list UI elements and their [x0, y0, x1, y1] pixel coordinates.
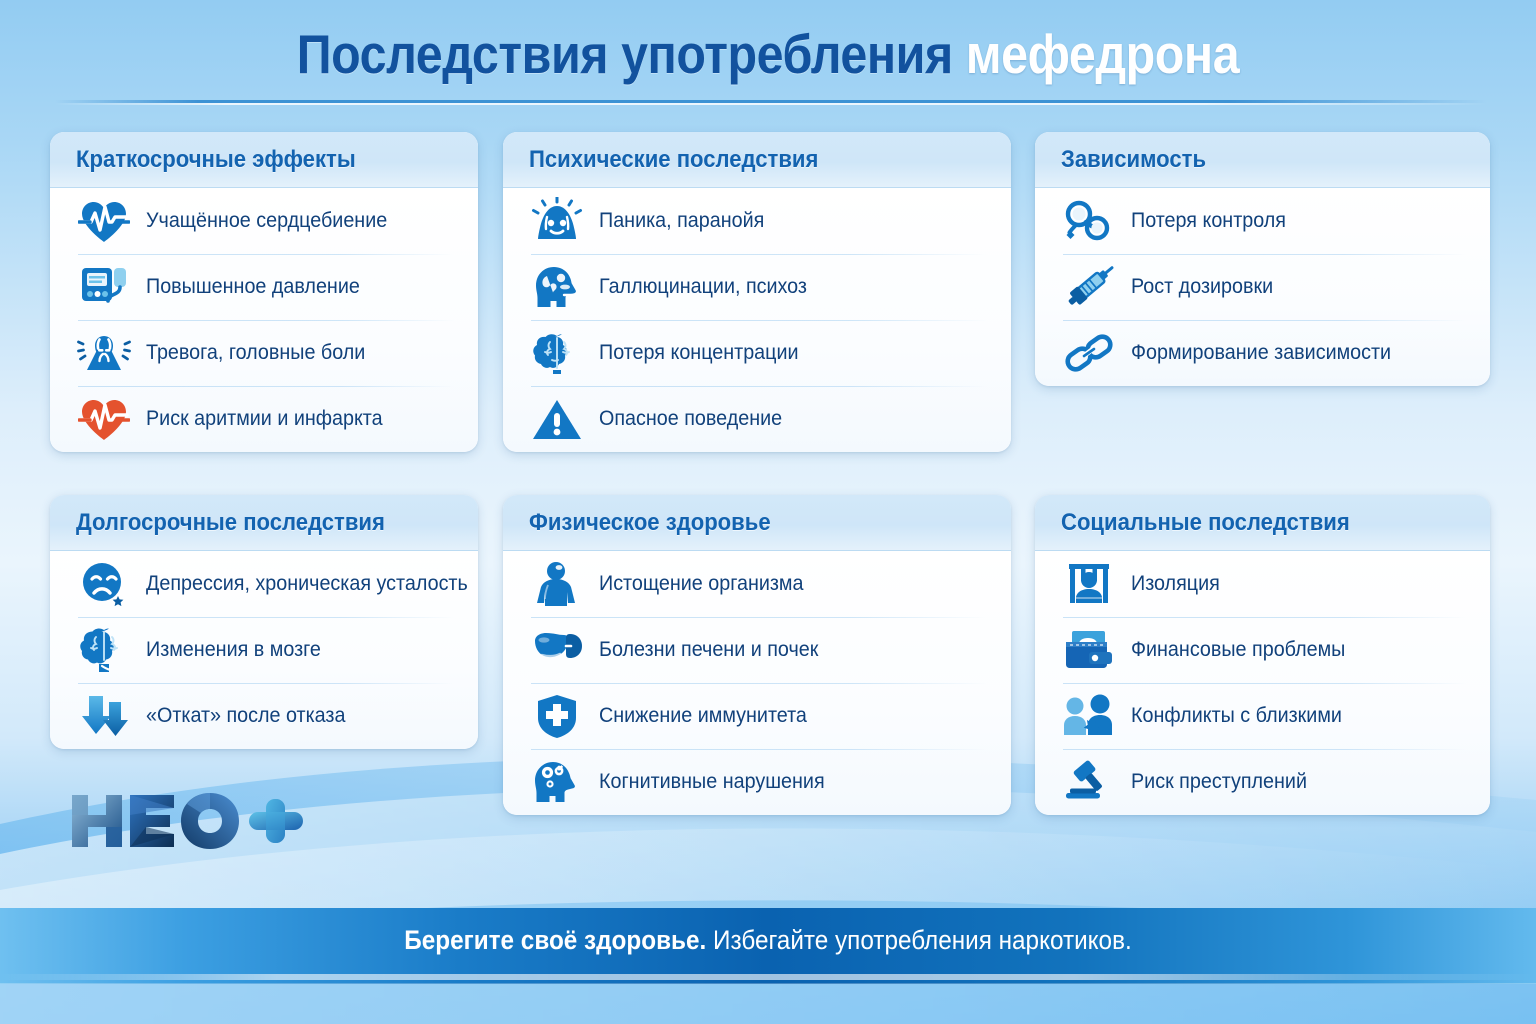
page-title-accent: мефедрона: [966, 23, 1239, 85]
list-item-label: Формирование зависимости: [1131, 341, 1391, 365]
heart-attack-icon: [76, 393, 132, 445]
list-item[interactable]: Галлюцинации, психоз: [521, 254, 993, 320]
handcuffs-icon: [1061, 195, 1117, 247]
footer-message-bold: Берегите своё здоровье.: [404, 925, 706, 955]
list-item[interactable]: «Откат» после отказа: [68, 683, 460, 749]
cognitive-gears-head-icon: [529, 756, 585, 808]
sad-face-icon: [76, 558, 132, 610]
card-header: Зависимость: [1035, 132, 1490, 188]
syringe-icon: [1061, 261, 1117, 313]
list-item-label: Потеря концентрации: [599, 341, 799, 365]
list-item[interactable]: Снижение иммунитета: [521, 683, 993, 749]
list-item[interactable]: Учащённое сердцебиение: [68, 188, 460, 254]
list-item[interactable]: Изоляция: [1053, 551, 1472, 617]
card-dependence[interactable]: Зависимость Потеря контроля Рост дозиров…: [1035, 132, 1490, 386]
card-body: Паника, паранойя Галлюцинации, психоз По…: [503, 188, 1011, 452]
card-header: Долгосрочные последствия: [50, 495, 478, 551]
card-body: Истощение организма Болезни печени и поч…: [503, 551, 1011, 815]
card-title: Психические последствия: [529, 146, 818, 174]
card-body: Изоляция Финансовые проблемы Конфликты с…: [1035, 551, 1490, 815]
list-item[interactable]: Истощение организма: [521, 551, 993, 617]
list-item-label: Галлюцинации, психоз: [599, 275, 807, 299]
list-item-label: Учащённое сердцебиение: [146, 209, 387, 233]
card-physical-health[interactable]: Физическое здоровье Истощение организма …: [503, 495, 1011, 815]
list-item-label: Опасное поведение: [599, 407, 782, 431]
card-title: Социальные последствия: [1061, 509, 1350, 537]
card-header: Социальные последствия: [1035, 495, 1490, 551]
list-item[interactable]: Изменения в мозге: [68, 617, 460, 683]
list-item[interactable]: Паника, паранойя: [521, 188, 993, 254]
list-item-label: Депрессия, хроническая усталость: [146, 572, 468, 596]
list-item-label: Паника, паранойя: [599, 209, 764, 233]
card-title: Долгосрочные последствия: [76, 509, 385, 537]
list-item-label: Риск аритмии и инфаркта: [146, 407, 383, 431]
card-long-term-consequences[interactable]: Долгосрочные последствия Депрессия, хрон…: [50, 495, 478, 749]
brain-changes-icon: [76, 624, 132, 676]
card-header: Краткосрочные эффекты: [50, 132, 478, 188]
list-item-label: Повышенное давление: [146, 275, 360, 299]
headache-person-icon: [76, 327, 132, 379]
list-item[interactable]: Потеря контроля: [1053, 188, 1472, 254]
conflict-people-icon: [1061, 690, 1117, 742]
page-header: Последствия употребления мефедрона: [0, 0, 1536, 106]
list-item-label: Болезни печени и почек: [599, 638, 818, 662]
list-item-label: Когнитивные нарушения: [599, 770, 825, 794]
card-body: Учащённое сердцебиение Повышенное давлен…: [50, 188, 478, 452]
list-item-label: Потеря контроля: [1131, 209, 1286, 233]
list-item[interactable]: Повышенное давление: [68, 254, 460, 320]
card-title: Зависимость: [1061, 146, 1206, 174]
card-social-consequences[interactable]: Социальные последствия Изоляция Финансов…: [1035, 495, 1490, 815]
exhausted-person-icon: [529, 558, 585, 610]
warning-triangle-icon: [529, 393, 585, 445]
list-item[interactable]: Депрессия, хроническая усталость: [68, 551, 460, 617]
hallucination-head-icon: [529, 261, 585, 313]
list-item[interactable]: Конфликты с близкими: [1053, 683, 1472, 749]
card-body: Потеря контроля Рост дозировки Формирова…: [1035, 188, 1490, 386]
footer-shine: [0, 974, 1536, 980]
list-item-label: Истощение организма: [599, 572, 803, 596]
brain-icon: [529, 327, 585, 379]
list-item-label: Изменения в мозге: [146, 638, 321, 662]
card-short-term-effects[interactable]: Краткосрочные эффекты Учащённое сердцеби…: [50, 132, 478, 452]
list-item[interactable]: Тревога, головные боли: [68, 320, 460, 386]
card-body: Депрессия, хроническая усталость Изменен…: [50, 551, 478, 749]
blood-pressure-monitor-icon: [76, 261, 132, 313]
list-item-label: Изоляция: [1131, 572, 1220, 596]
heartbeat-icon: [76, 195, 132, 247]
list-item-label: Риск преступлений: [1131, 770, 1307, 794]
list-item[interactable]: Болезни печени и почек: [521, 617, 993, 683]
list-item[interactable]: Формирование зависимости: [1053, 320, 1472, 386]
footer-message-regular: Избегайте употребления наркотиков.: [706, 925, 1132, 955]
list-item-label: Тревога, головные боли: [146, 341, 365, 365]
list-item-label: Конфликты с близкими: [1131, 704, 1342, 728]
isolation-bars-icon: [1061, 558, 1117, 610]
shield-cross-icon: [529, 690, 585, 742]
page-title: Последствия употребления мефедрона: [92, 22, 1444, 86]
wallet-icon: [1061, 624, 1117, 676]
gavel-icon: [1061, 756, 1117, 808]
card-mental-consequences[interactable]: Психические последствия Паника, паранойя…: [503, 132, 1011, 452]
panic-face-icon: [529, 195, 585, 247]
list-item-label: «Откат» после отказа: [146, 704, 345, 728]
card-header: Физическое здоровье: [503, 495, 1011, 551]
card-title: Краткосрочные эффекты: [76, 146, 356, 174]
footer-message: Берегите своё здоровье. Избегайте употре…: [77, 925, 1459, 956]
card-header: Психические последствия: [503, 132, 1011, 188]
list-item-label: Финансовые проблемы: [1131, 638, 1345, 662]
list-item-label: Снижение иммунитета: [599, 704, 807, 728]
logo-neo-plus: [68, 789, 338, 851]
list-item[interactable]: Финансовые проблемы: [1053, 617, 1472, 683]
page-title-primary: Последствия употребления: [297, 23, 953, 85]
list-item[interactable]: Опасное поведение: [521, 386, 993, 452]
liver-kidney-icon: [529, 624, 585, 676]
list-item[interactable]: Риск преступлений: [1053, 749, 1472, 815]
chain-link-icon: [1061, 327, 1117, 379]
list-item-label: Рост дозировки: [1131, 275, 1273, 299]
list-item[interactable]: Потеря концентрации: [521, 320, 993, 386]
header-divider-highlight: [55, 103, 1487, 105]
list-item[interactable]: Когнитивные нарушения: [521, 749, 993, 815]
list-item[interactable]: Рост дозировки: [1053, 254, 1472, 320]
list-item[interactable]: Риск аритмии и инфаркта: [68, 386, 460, 452]
card-title: Физическое здоровье: [529, 509, 771, 537]
down-arrows-icon: [76, 690, 132, 742]
